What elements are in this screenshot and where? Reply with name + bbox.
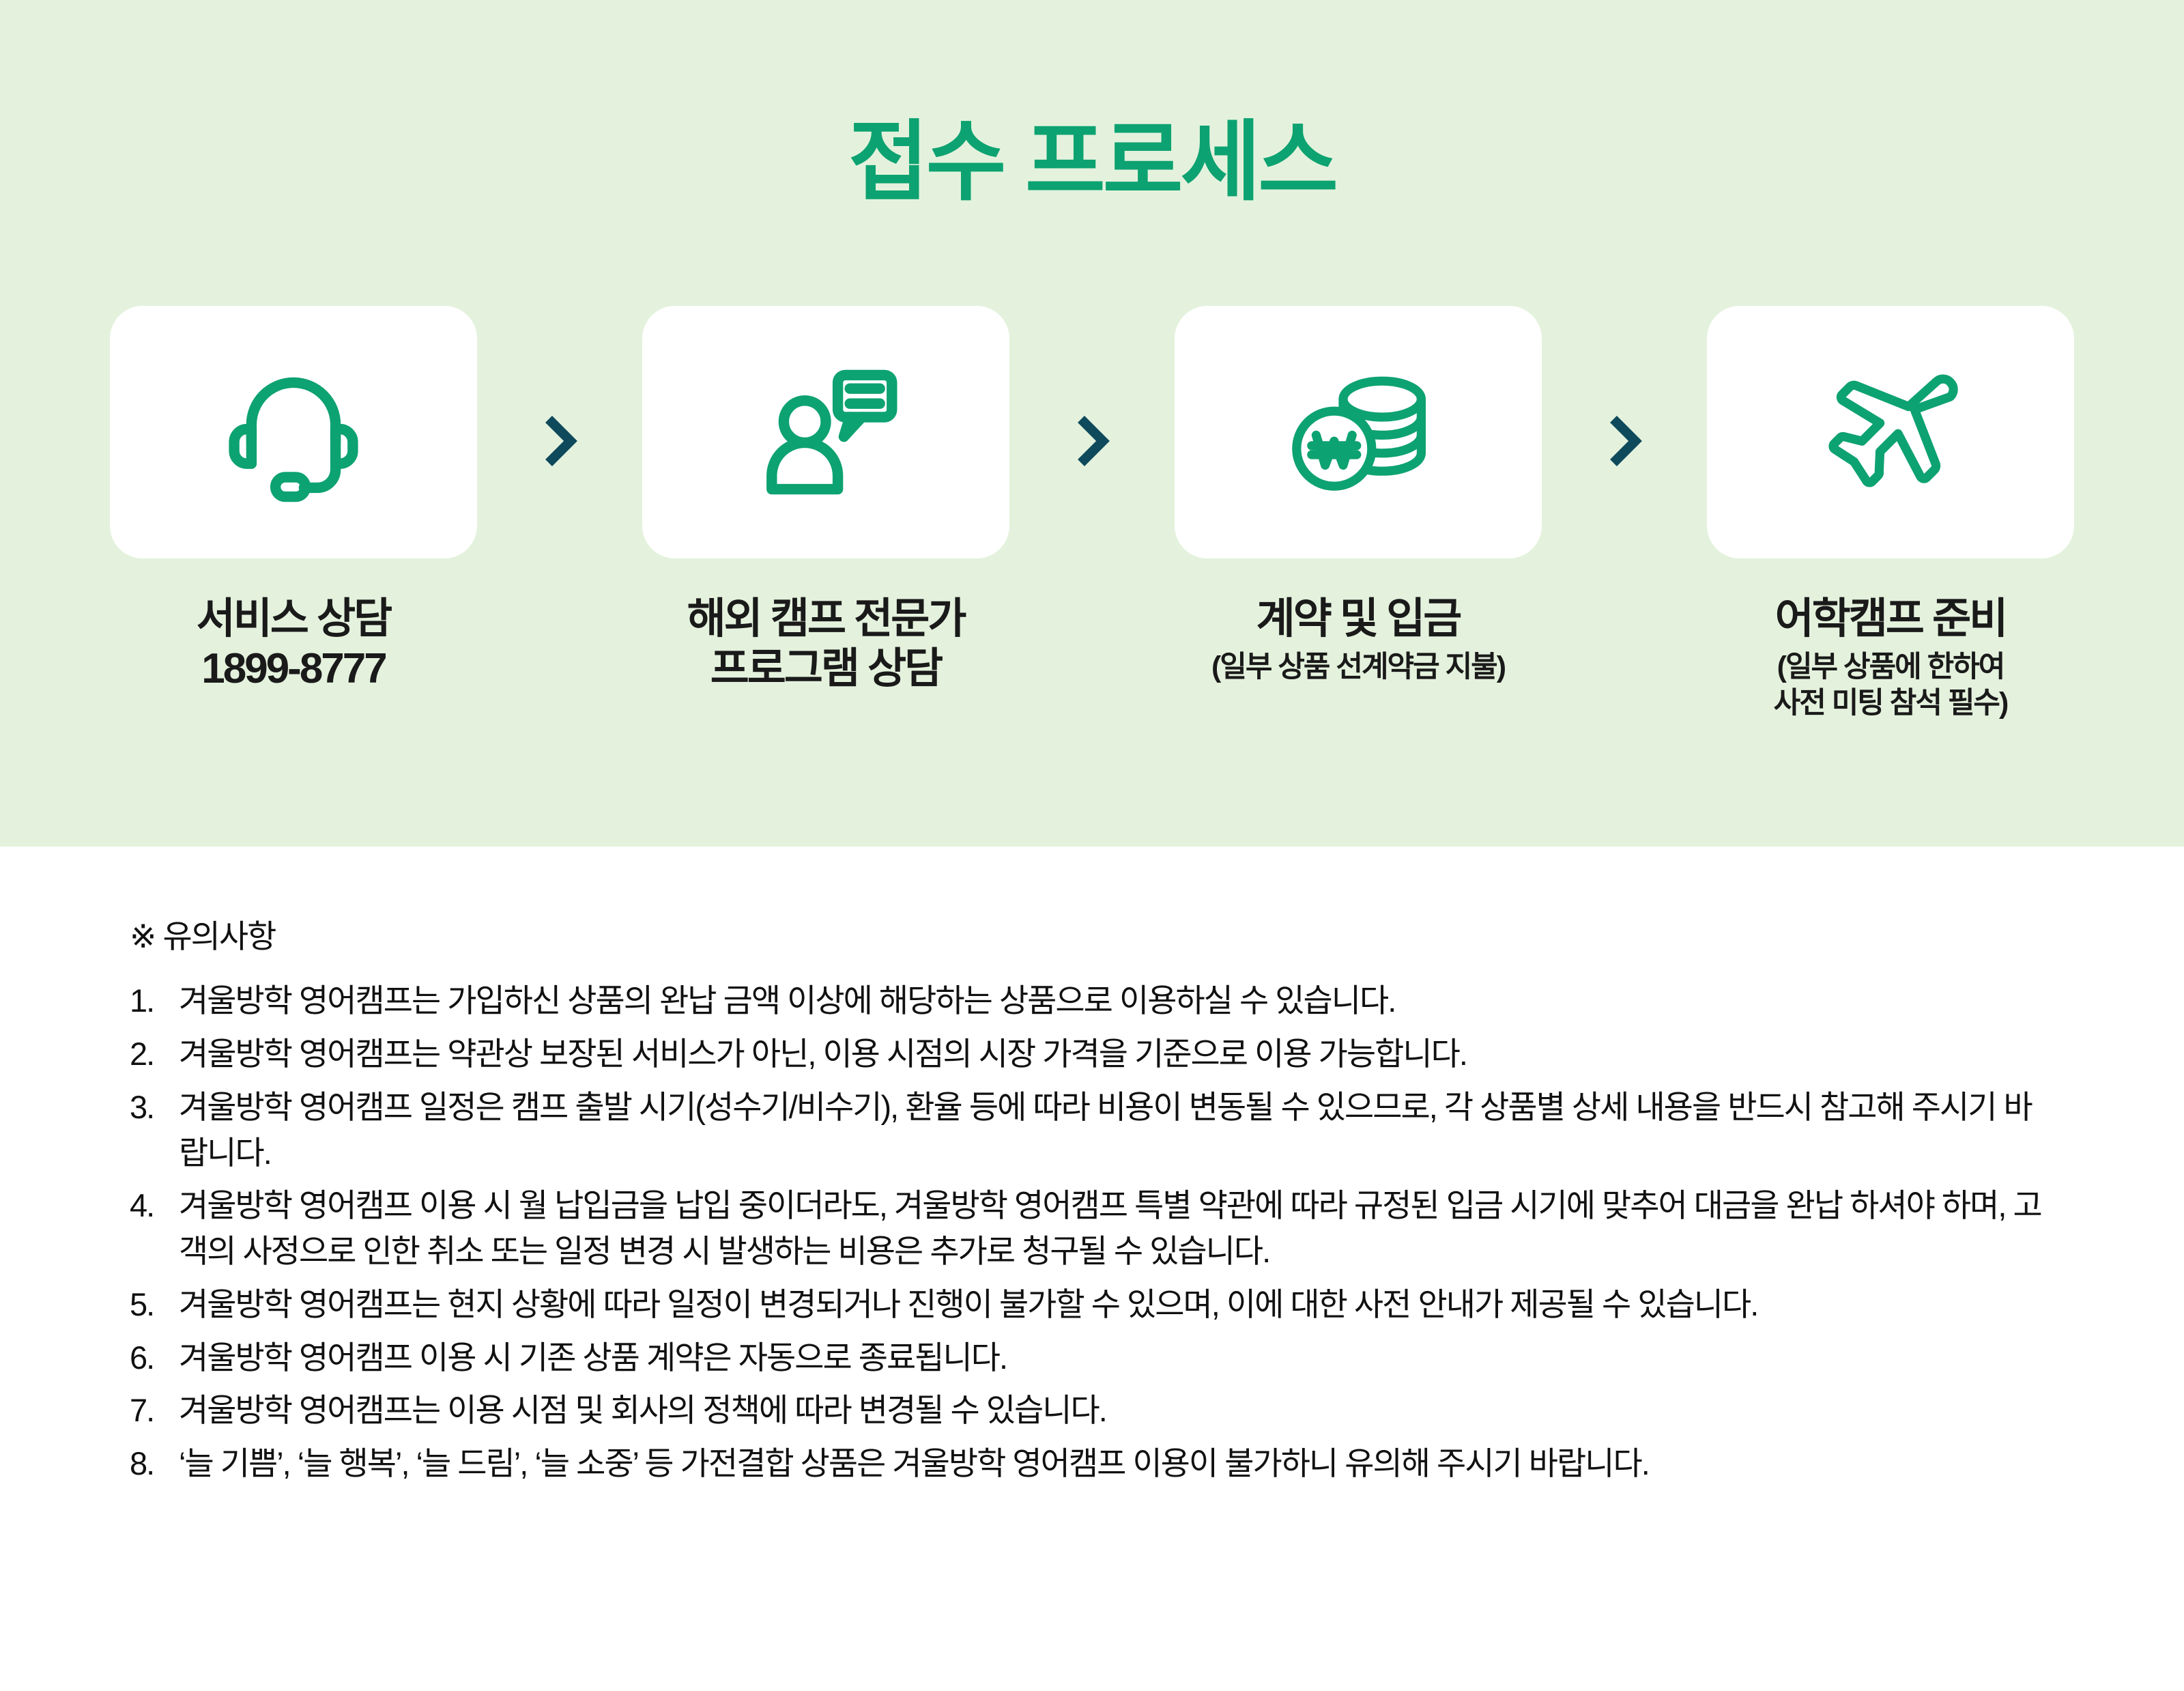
step-3-sublabel: (일부 상품 선계약금 지불) (1211, 649, 1505, 685)
person-chat-icon (751, 357, 901, 507)
note-item: 7. 겨울방학 영어캠프는 이용 시점 및 회사의 정책에 따라 변경될 수 있… (130, 1388, 2054, 1434)
notes-heading: ※ 유의사항 (130, 915, 2054, 958)
process-step-3: 계약 및 입금 (일부 상품 선계약금 지불) (1167, 306, 1549, 685)
process-step-2: 해외 캠프 전문가 프로그램 상담 (635, 306, 1017, 699)
note-number: 4. (130, 1183, 179, 1229)
note-text: 겨울방학 영어캠프는 약관상 보장된 서비스가 아닌, 이용 시점의 시장 가격… (179, 1032, 2054, 1077)
process-step-4: 어학캠프 준비 (일부 상품에 한하여 사전 미팅 참석 필수) (1699, 306, 2082, 721)
step-2-card (642, 306, 1009, 558)
note-item: 6. 겨울방학 영어캠프 이용 시 기존 상품 계약은 자동으로 종료됩니다. (130, 1335, 2054, 1381)
note-item: 2. 겨울방학 영어캠프는 약관상 보장된 서비스가 아닌, 이용 시점의 시장… (130, 1032, 2054, 1077)
step-2-label: 해외 캠프 전문가 프로그램 상담 (687, 594, 965, 694)
coins-won-icon (1283, 357, 1433, 507)
note-item: 1. 겨울방학 영어캠프는 가입하신 상품의 완납 금액 이상에 해당하는 상품… (130, 978, 2054, 1024)
note-text: 겨울방학 영어캠프는 현지 상황에 따라 일정이 변경되거나 진행이 불가할 수… (179, 1282, 2054, 1328)
step-4-label: 어학캠프 준비 (1775, 594, 2006, 644)
note-text: 겨울방학 영어캠프 이용 시 기존 상품 계약은 자동으로 종료됩니다. (179, 1335, 2054, 1381)
note-text: 겨울방학 영어캠프 이용 시 월 납입금을 납입 중이더라도, 겨울방학 영어캠… (179, 1183, 2054, 1274)
step-1-label: 서비스 상담 1899-8777 (197, 594, 390, 694)
step-3-card (1175, 306, 1542, 558)
note-number: 5. (130, 1282, 179, 1328)
note-text: 겨울방학 영어캠프 일정은 캠프 출발 시기(성수기/비수기), 환율 등에 따… (179, 1085, 2054, 1176)
process-hero-section: 접수 프로세스 서비스 상담 1899-8777 (0, 0, 2184, 847)
notes-section: ※ 유의사항 1. 겨울방학 영어캠프는 가입하신 상품의 완납 금액 이상에 … (0, 847, 2184, 1691)
note-item: 8. ‘늘 기쁨’, ‘늘 행복’, ‘늘 드림’, ‘늘 소중’ 등 가전결합… (130, 1441, 2054, 1487)
step-4-sublabel: (일부 상품에 한하여 사전 미팅 참석 필수) (1774, 649, 2008, 721)
note-number: 8. (130, 1441, 179, 1487)
note-item: 3. 겨울방학 영어캠프 일정은 캠프 출발 시기(성수기/비수기), 환율 등… (130, 1085, 2054, 1176)
note-text: ‘늘 기쁨’, ‘늘 행복’, ‘늘 드림’, ‘늘 소중’ 등 가전결합 상품… (179, 1441, 2054, 1487)
process-step-1: 서비스 상담 1899-8777 (102, 306, 485, 699)
note-item: 4. 겨울방학 영어캠프 이용 시 월 납입금을 납입 중이더라도, 겨울방학 … (130, 1183, 2054, 1274)
note-item: 5. 겨울방학 영어캠프는 현지 상황에 따라 일정이 변경되거나 진행이 불가… (130, 1282, 2054, 1328)
page-title: 접수 프로세스 (0, 115, 2184, 211)
note-text: 겨울방학 영어캠프는 가입하신 상품의 완납 금액 이상에 해당하는 상품으로 … (179, 978, 2054, 1024)
note-number: 1. (130, 978, 179, 1024)
note-number: 7. (130, 1388, 179, 1434)
step-3-label: 계약 및 입금 (1256, 594, 1461, 644)
note-number: 2. (130, 1032, 179, 1077)
chevron-right-icon-1 (522, 408, 597, 474)
headset-icon (218, 357, 369, 507)
chevron-right-icon-2 (1054, 408, 1130, 474)
process-steps-row: 서비스 상담 1899-8777 (102, 306, 2082, 721)
airplane-icon (1815, 357, 1966, 507)
note-text: 겨울방학 영어캠프는 이용 시점 및 회사의 정책에 따라 변경될 수 있습니다… (179, 1388, 2054, 1434)
note-number: 3. (130, 1085, 179, 1131)
note-number: 6. (130, 1335, 179, 1381)
step-1-card (110, 306, 477, 558)
step-4-card (1707, 306, 2074, 558)
chevron-right-icon-3 (1587, 408, 1662, 474)
